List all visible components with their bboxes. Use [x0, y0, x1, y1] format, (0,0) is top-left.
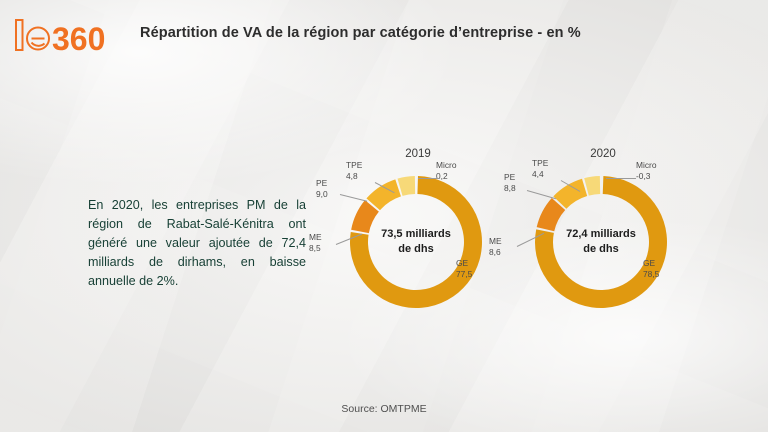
callout-me-2020: ME 8,6 — [489, 236, 502, 258]
donut-ring-2019 — [346, 172, 486, 312]
callout-me-2020-value: 8,6 — [489, 247, 502, 258]
le360-logo-mark: 360 — [14, 16, 110, 56]
callout-tpe-2020-value: 4,4 — [532, 169, 548, 180]
callout-me-2020-name: ME — [489, 236, 502, 247]
callout-micro-2020-value: -0,3 — [636, 171, 656, 182]
callout-me-2019: ME 8,5 — [309, 232, 322, 254]
callout-ge-2019: GE 77,5 — [456, 258, 472, 280]
callout-pe-2019-name: PE — [316, 178, 328, 189]
leader-micro-2019 — [418, 178, 440, 179]
callout-me-2019-name: ME — [309, 232, 322, 243]
leader-micro-2020 — [606, 178, 636, 179]
donut-chart-2019: 2019 73,5 milliards de dhs Micro 0,2 GE … — [318, 148, 518, 308]
callout-ge-2019-name: GE — [456, 258, 472, 269]
callout-tpe-2019-name: TPE — [346, 160, 362, 171]
donut-chart-2020: 2020 72,4 milliards de dhs Micro -0,3 GE… — [503, 148, 703, 308]
callout-ge-2020-name: GE — [643, 258, 659, 269]
callout-tpe-2020: TPE 4,4 — [532, 158, 548, 180]
callout-ge-2020-value: 78,5 — [643, 269, 659, 280]
page-title: Répartition de VA de la région par catég… — [140, 25, 700, 41]
callout-pe-2019: PE 9,0 — [316, 178, 328, 200]
summary-paragraph: En 2020, les entreprises PM de la région… — [88, 196, 306, 290]
source-note: Source: OMTPME — [0, 403, 768, 415]
callout-micro-2020-name: Micro — [636, 160, 656, 171]
callout-pe-2020-name: PE — [504, 172, 516, 183]
callout-pe-2019-value: 9,0 — [316, 189, 328, 200]
callout-micro-2020: Micro -0,3 — [636, 160, 656, 182]
callout-tpe-2019-value: 4,8 — [346, 171, 362, 182]
callout-tpe-2020-name: TPE — [532, 158, 548, 169]
svg-text:360: 360 — [52, 21, 105, 56]
callout-micro-2019-name: Micro — [436, 160, 456, 171]
callout-ge-2020: GE 78,5 — [643, 258, 659, 280]
callout-micro-2019-value: 0,2 — [436, 171, 456, 182]
callout-pe-2020-value: 8,8 — [504, 183, 516, 194]
callout-tpe-2019: TPE 4,8 — [346, 160, 362, 182]
callout-me-2019-value: 8,5 — [309, 243, 322, 254]
chart-year-label-2019: 2019 — [318, 148, 518, 160]
callout-pe-2020: PE 8,8 — [504, 172, 516, 194]
donut-slice-tpe-2020 — [584, 176, 600, 196]
donut-ring-2020 — [531, 172, 671, 312]
donut-slice-tpe-2019 — [397, 176, 415, 196]
callout-ge-2019-value: 77,5 — [456, 269, 472, 280]
le360-logo[interactable]: 360 — [14, 16, 110, 56]
